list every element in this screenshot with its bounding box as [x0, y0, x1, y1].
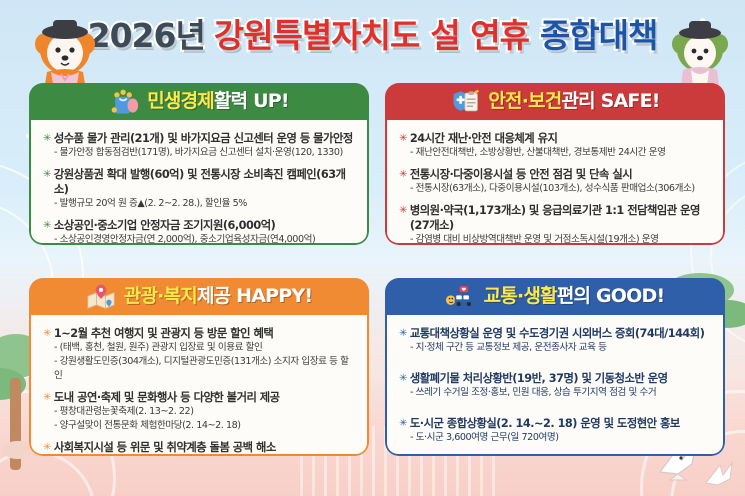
- panel-head-plain: 활력 UP!: [214, 90, 289, 112]
- list-item: ✳사회복지시설 등 위문 및 취약계층 돌봄 공백 해소 - 위문물품 전달 및…: [43, 440, 355, 456]
- list-item: ✳생활폐기물 처리상황반(19반, 37명) 및 기동청소반 운영 - 쓰레기 …: [399, 371, 711, 400]
- bullet-icon: ✳: [43, 218, 51, 233]
- bullet-icon: ✳: [399, 326, 407, 341]
- panel-gwangwang: 관광·복지제공 HAPPY! ✳1~2월 추천 여행지 및 관광지 등 방문 할…: [29, 278, 369, 456]
- panel-head-colored: 민생경제: [147, 90, 214, 112]
- item-heading: ✳강원상품권 확대 발행(60억) 및 전통시장 소비촉진 캠페인(63개소): [43, 167, 355, 197]
- crane-bird-icon-small: [700, 455, 745, 495]
- bullet-icon: ✳: [399, 167, 407, 182]
- item-sub: - 소상공인경영안정자금(연 2,000억), 중소기업육성자금(연4,000억…: [43, 233, 355, 245]
- panel-body-gwangwang: ✳1~2월 추천 여행지 및 관광지 등 방문 할인 혜택 - (태백, 홍천,…: [29, 315, 369, 456]
- panel-body-minsaeng: ✳성수품 물가 관리(21개) 및 바가지요금 신고센터 운영 등 물가안정 -…: [29, 120, 369, 245]
- item-sub: - 평창대관령눈꽃축제(2. 13~2. 22): [43, 405, 355, 419]
- item-sub: - 양구설맞이 전통문화 체험한마당(2. 14~2. 18): [43, 419, 355, 433]
- panel-header-minsaeng: 민생경제활력 UP!: [29, 83, 369, 120]
- shield-clipboard-icon: [450, 88, 480, 116]
- poster-root: 2026년강원특별자치도설 연휴종합대책: [0, 0, 745, 496]
- list-item: ✳강원상품권 확대 발행(60억) 및 전통시장 소비촉진 캠페인(63개소) …: [43, 167, 355, 211]
- list-item: ✳성수품 물가 관리(21개) 및 바가지요금 신고센터 운영 등 물가안정 -…: [43, 131, 355, 160]
- bullet-icon: ✳: [399, 131, 407, 146]
- list-item: ✳소상공인·중소기업 안정자금 조기지원(6,000억) - 소상공인경영안정자…: [43, 218, 355, 245]
- item-sub: - (태백, 홍천, 철원, 원주) 관광지 입장료 및 이용료 할인: [43, 341, 355, 355]
- list-item: ✳전통시장·다중이용시설 등 안전 점검 및 단속 실시 - 전통시장(63개소…: [399, 167, 711, 196]
- item-heading-text: 교통대책상황실 운영 및 수도경기권 시외버스 증회(74대/144회): [410, 326, 704, 341]
- panel-head-plain: 관리 SAFE!: [561, 90, 659, 112]
- title-plan: 종합대책: [540, 16, 657, 55]
- panel-head-colored: 교통·생활: [484, 285, 557, 307]
- item-sub: - 도·시군 3,600여명 근무(일 720여명): [399, 431, 711, 445]
- item-sub: - 물가안정 합동점검반(171명), 바가지요금 신고센터 설치·운영(120…: [43, 146, 355, 160]
- panel-head-colored: 관광·복지: [124, 285, 197, 307]
- bullet-icon: ✳: [399, 371, 407, 386]
- item-sub: - 발행규모 20억 원 증▲(2. 2~2. 28.), 할인율 5%: [43, 197, 355, 211]
- item-sub: - 강원생활도민증(304개소), 디지털관광도민증(131개소) 소지자 입장…: [43, 355, 355, 383]
- panel-head-plain: 제공 HAPPY!: [197, 285, 312, 307]
- item-heading-text: 1~2월 추천 여행지 및 관광지 등 방문 할인 혜택: [54, 326, 273, 341]
- item-heading-text: 도내 공연·축제 및 문화행사 등 다양한 볼거리 제공: [54, 390, 280, 405]
- item-heading: ✳24시간 재난·안전 대응체계 유지: [399, 131, 711, 146]
- title-province: 강원특별자치도: [214, 16, 420, 55]
- list-item: ✳교통대책상황실 운영 및 수도경기권 시외버스 증회(74대/144회) - …: [399, 326, 711, 355]
- page-title: 2026년강원특별자치도설 연휴종합대책: [0, 14, 745, 58]
- item-heading-text: 도·시군 종합상황실(2. 14.~2. 18) 운영 및 도정현안 홍보: [410, 416, 680, 431]
- item-heading: ✳성수품 물가 관리(21개) 및 바가지요금 신고센터 운영 등 물가안정: [43, 131, 355, 146]
- panel-header-anjeon: 안전·보건관리 SAFE!: [385, 83, 725, 120]
- bullet-icon: ✳: [43, 390, 51, 405]
- panel-head-colored: 안전·보건: [488, 90, 561, 112]
- item-heading-text: 병의원·약국(1,173개소) 및 응급의료기관 1:1 전담책임관 운영(27…: [410, 203, 711, 233]
- bus-heart-icon: [446, 283, 476, 311]
- list-item: ✳도·시군 종합상황실(2. 14.~2. 18) 운영 및 도정현안 홍보 -…: [399, 416, 711, 445]
- panel-minsaeng: 민생경제활력 UP! ✳성수품 물가 관리(21개) 및 바가지요금 신고센터 …: [29, 83, 369, 245]
- bullet-icon: ✳: [399, 203, 407, 218]
- panel-anjeon: 안전·보건관리 SAFE! ✳24시간 재난·안전 대응체계 유지 - 재난안전…: [385, 83, 725, 245]
- item-heading: ✳교통대책상황실 운영 및 수도경기권 시외버스 증회(74대/144회): [399, 326, 711, 341]
- panel-header-text-gwangwang: 관광·복지제공 HAPPY!: [124, 278, 312, 315]
- item-sub: - 지·정체 구간 등 교통정보 제공, 운전종사자 교육 등: [399, 341, 711, 355]
- item-heading-text: 사회복지시설 등 위문 및 취약계층 돌봄 공백 해소: [54, 440, 276, 455]
- list-item: ✳도내 공연·축제 및 문화행사 등 다양한 볼거리 제공 - 평창대관령눈꽃축…: [43, 390, 355, 433]
- item-heading: ✳1~2월 추천 여행지 및 관광지 등 방문 할인 혜택: [43, 326, 355, 341]
- item-heading: ✳도·시군 종합상황실(2. 14.~2. 18) 운영 및 도정현안 홍보: [399, 416, 711, 431]
- item-heading: ✳생활폐기물 처리상황반(19반, 37명) 및 기동청소반 운영: [399, 371, 711, 386]
- item-heading: ✳전통시장·다중이용시설 등 안전 점검 및 단속 실시: [399, 167, 711, 182]
- map-pin-icon: [86, 283, 116, 311]
- item-heading-text: 전통시장·다중이용시설 등 안전 점검 및 단속 실시: [410, 167, 632, 182]
- bullet-icon: ✳: [43, 326, 51, 341]
- title-year: 2026년: [88, 16, 205, 55]
- bullet-icon: ✳: [43, 440, 51, 455]
- item-heading-text: 성수품 물가 관리(21개) 및 바가지요금 신고센터 운영 등 물가안정: [54, 131, 353, 146]
- item-heading-text: 강원상품권 확대 발행(60억) 및 전통시장 소비촉진 캠페인(63개소): [54, 167, 355, 197]
- item-heading-text: 소상공인·중소기업 안정자금 조기지원(6,000억): [54, 218, 275, 233]
- panel-head-plain: 편의 GOOD!: [557, 285, 665, 307]
- bullet-icon: ✳: [399, 416, 407, 431]
- item-heading: ✳소상공인·중소기업 안정자금 조기지원(6,000억): [43, 218, 355, 233]
- panel-header-text-gyotong: 교통·생활편의 GOOD!: [484, 278, 665, 315]
- panel-gyotong: 교통·생활편의 GOOD! ✳교통대책상황실 운영 및 수도경기권 시외버스 증…: [385, 278, 725, 456]
- item-heading: ✳사회복지시설 등 위문 및 취약계층 돌봄 공백 해소: [43, 440, 355, 455]
- list-item: ✳1~2월 추천 여행지 및 관광지 등 방문 할인 혜택 - (태백, 홍천,…: [43, 326, 355, 383]
- list-item: ✳24시간 재난·안전 대응체계 유지 - 재난안전대책반, 소방상황반, 산불…: [399, 131, 711, 160]
- bullet-icon: ✳: [43, 167, 51, 182]
- list-item: ✳병의원·약국(1,173개소) 및 응급의료기관 1:1 전담책임관 운영(2…: [399, 203, 711, 245]
- item-heading-text: 24시간 재난·안전 대응체계 유지: [410, 131, 558, 146]
- title-bar: 2026년강원특별자치도설 연휴종합대책: [0, 0, 745, 72]
- panel-body-gyotong: ✳교통대책상황실 운영 및 수도경기권 시외버스 증회(74대/144회) - …: [385, 315, 725, 456]
- item-sub: - 감염병 대비 비상방역대책반 운영 및 거점소독시설(19개소) 운영: [399, 233, 711, 245]
- item-sub: - 재난안전대책반, 소방상황반, 산불대책반, 경보통제반 24시간 운영: [399, 146, 711, 160]
- panel-header-text-anjeon: 안전·보건관리 SAFE!: [488, 83, 659, 120]
- panel-header-gyotong: 교통·생활편의 GOOD!: [385, 278, 725, 315]
- item-sub: - 위문물품 전달 및 모니터링, 24시간 비상 연락 체계 유지: [43, 455, 355, 456]
- item-sub: - 전통시장(63개소), 다중이용시설(103개소), 성수식품 판매업소(3…: [399, 182, 711, 196]
- panel-body-anjeon: ✳24시간 재난·안전 대응체계 유지 - 재난안전대책반, 소방상황반, 산불…: [385, 120, 725, 245]
- item-heading: ✳도내 공연·축제 및 문화행사 등 다양한 볼거리 제공: [43, 390, 355, 405]
- panel-header-gwangwang: 관광·복지제공 HAPPY!: [29, 278, 369, 315]
- title-holiday: 설 연휴: [430, 16, 529, 55]
- bullet-icon: ✳: [43, 131, 51, 146]
- shopping-bag-coins-icon: [109, 88, 139, 116]
- item-sub: - 쓰레기 수거일 조정·홍보, 민원 대응, 상습 투기지역 점검 및 수거: [399, 386, 711, 400]
- item-heading: ✳병의원·약국(1,173개소) 및 응급의료기관 1:1 전담책임관 운영(2…: [399, 203, 711, 233]
- panel-header-text-minsaeng: 민생경제활력 UP!: [147, 83, 289, 120]
- item-heading-text: 생활폐기물 처리상황반(19반, 37명) 및 기동청소반 운영: [410, 371, 668, 386]
